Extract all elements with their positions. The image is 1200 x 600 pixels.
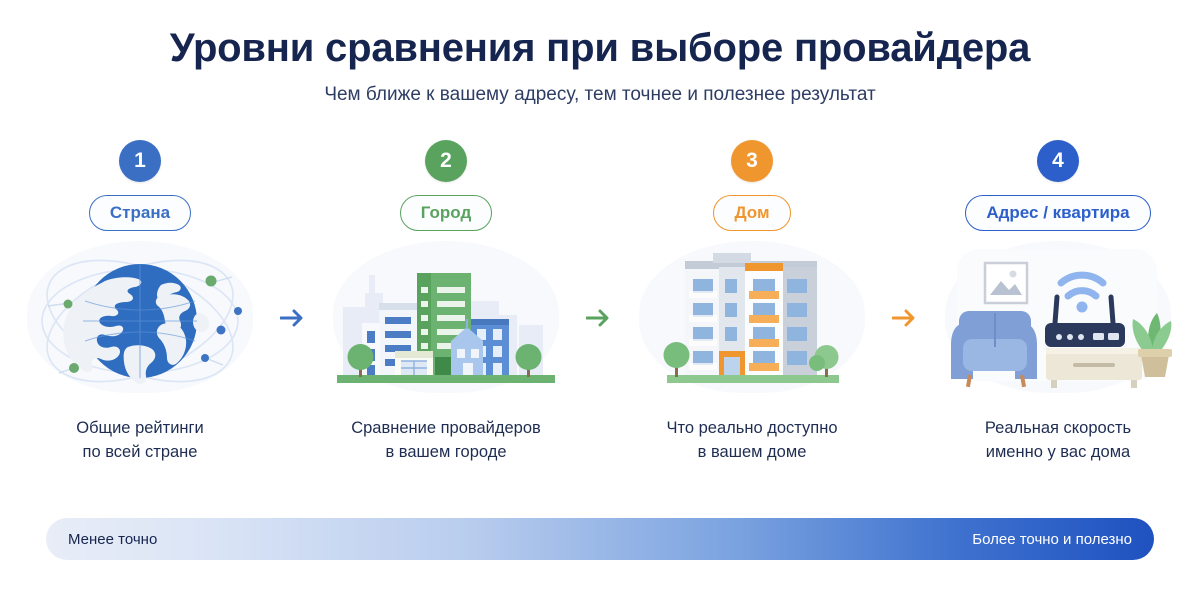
caption-line-1: Общие рейтинги bbox=[76, 417, 204, 441]
infographic-page: Уровни сравнения при выборе провайдера Ч… bbox=[0, 0, 1200, 600]
step-building: 3 Дом bbox=[612, 140, 892, 465]
caption-line-1: Реальная скорость bbox=[985, 417, 1131, 441]
step-number-badge-3: 3 bbox=[731, 140, 773, 182]
step-label-country[interactable]: Страна bbox=[89, 195, 191, 231]
step-caption-address: Реальная скорость именно у вас дома bbox=[985, 417, 1131, 465]
living-room-router-icon bbox=[933, 245, 1183, 395]
step-label-city[interactable]: Город bbox=[400, 195, 493, 231]
step-city: 2 Город bbox=[306, 140, 586, 465]
arrow-step2-to-step3 bbox=[586, 140, 612, 328]
step-caption-building: Что реально доступно в вашем доме bbox=[666, 417, 837, 465]
accuracy-scale-bar: Менее точно Более точно и полезно bbox=[46, 518, 1154, 560]
caption-line-2: по всей стране bbox=[76, 441, 204, 465]
scale-left-label: Менее точно bbox=[68, 531, 157, 548]
step-caption-country: Общие рейтинги по всей стране bbox=[76, 417, 204, 465]
step-number-badge-4: 4 bbox=[1037, 140, 1079, 182]
steps-row: 1 Страна bbox=[0, 140, 1200, 500]
caption-line-2: именно у вас дома bbox=[985, 441, 1131, 465]
page-title: Уровни сравнения при выборе провайдера bbox=[0, 26, 1200, 70]
step-label-building[interactable]: Дом bbox=[713, 195, 790, 231]
caption-line-2: в вашем доме bbox=[666, 441, 837, 465]
caption-line-1: Сравнение провайдеров bbox=[351, 417, 541, 441]
arrow-step3-to-step4 bbox=[892, 140, 918, 328]
arrow-step1-to-step2 bbox=[280, 140, 306, 328]
scale-right-label: Более точно и полезно bbox=[972, 531, 1132, 548]
globe-icon bbox=[15, 245, 265, 395]
page-subtitle: Чем ближе к вашему адресу, тем точнее и … bbox=[0, 84, 1200, 106]
apartment-building-icon bbox=[627, 245, 877, 395]
step-number-badge-2: 2 bbox=[425, 140, 467, 182]
caption-line-2: в вашем городе bbox=[351, 441, 541, 465]
step-country: 1 Страна bbox=[0, 140, 280, 465]
cityscape-icon bbox=[321, 245, 571, 395]
header: Уровни сравнения при выборе провайдера Ч… bbox=[0, 0, 1200, 106]
caption-line-1: Что реально доступно bbox=[666, 417, 837, 441]
step-caption-city: Сравнение провайдеров в вашем городе bbox=[351, 417, 541, 465]
step-label-address[interactable]: Адрес / квартира bbox=[965, 195, 1150, 231]
step-address: 4 Адрес / квартира bbox=[918, 140, 1198, 465]
step-number-badge-1: 1 bbox=[119, 140, 161, 182]
